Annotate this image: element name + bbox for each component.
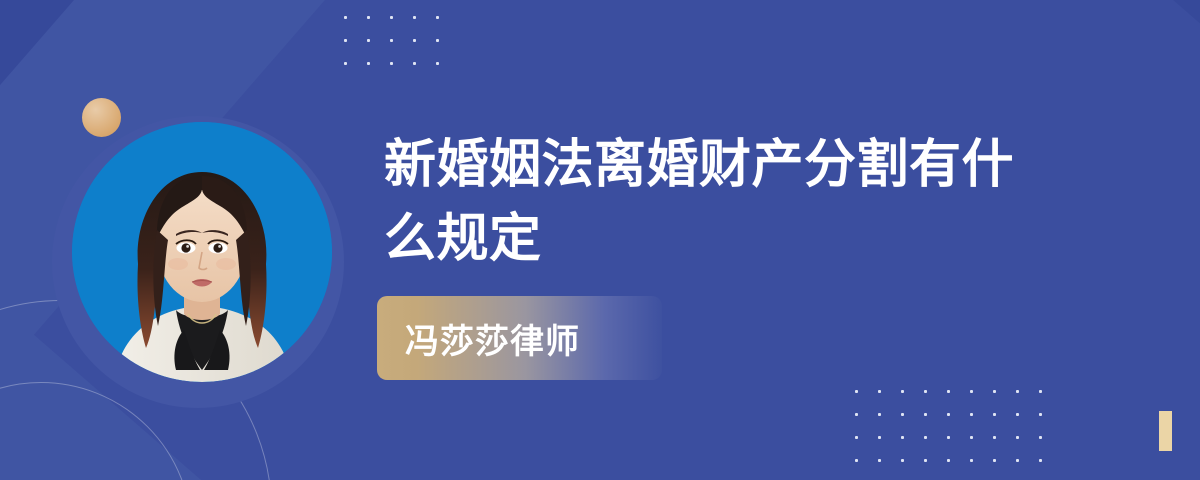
gold-dot-accent: [82, 98, 121, 137]
lawyer-name-label: 冯莎莎律师: [405, 314, 580, 363]
dot: [380, 29, 403, 52]
dot: [868, 380, 891, 403]
dot: [845, 380, 868, 403]
dot: [1006, 380, 1029, 403]
dot: [891, 426, 914, 449]
dot: [357, 29, 380, 52]
dot-grid-top-left: [334, 6, 449, 75]
dot: [960, 380, 983, 403]
dot: [426, 6, 449, 29]
dot: [983, 449, 1006, 472]
dot: [868, 403, 891, 426]
gold-accent-bar: [1159, 411, 1172, 451]
dot: [1006, 449, 1029, 472]
page-title: 新婚姻法离婚财产分割有什么规定: [384, 128, 1064, 276]
dot-grid-bottom-right: [845, 380, 1052, 472]
dot: [334, 29, 357, 52]
dot: [845, 426, 868, 449]
dot: [334, 6, 357, 29]
dot: [868, 449, 891, 472]
dot: [983, 426, 1006, 449]
dot: [1029, 449, 1052, 472]
dot: [845, 449, 868, 472]
dot: [403, 6, 426, 29]
dot: [937, 426, 960, 449]
dot: [357, 52, 380, 75]
dot: [1029, 426, 1052, 449]
portrait-circle: [72, 122, 332, 382]
dot: [891, 380, 914, 403]
dot: [1029, 403, 1052, 426]
portrait-photo: [72, 122, 332, 382]
dot: [891, 403, 914, 426]
dot: [845, 403, 868, 426]
dot: [426, 29, 449, 52]
dot: [960, 449, 983, 472]
dot: [937, 403, 960, 426]
dot: [426, 52, 449, 75]
dot: [334, 52, 357, 75]
dot: [937, 449, 960, 472]
dot: [403, 52, 426, 75]
lawyer-name-badge: 冯莎莎律师: [377, 296, 662, 380]
dot: [403, 29, 426, 52]
dot: [983, 403, 1006, 426]
dot: [1006, 403, 1029, 426]
dot: [357, 6, 380, 29]
dot: [380, 52, 403, 75]
dot: [891, 449, 914, 472]
dot: [983, 380, 1006, 403]
dot: [914, 380, 937, 403]
dot: [868, 426, 891, 449]
portrait: [52, 116, 344, 408]
lawyer-article-banner: 新婚姻法离婚财产分割有什么规定 冯莎莎律师: [0, 0, 1200, 480]
dot: [914, 403, 937, 426]
dot: [960, 426, 983, 449]
dot: [937, 380, 960, 403]
dot: [1006, 426, 1029, 449]
dot: [914, 449, 937, 472]
dot: [1029, 380, 1052, 403]
dot: [960, 403, 983, 426]
dot: [380, 6, 403, 29]
dot: [914, 426, 937, 449]
